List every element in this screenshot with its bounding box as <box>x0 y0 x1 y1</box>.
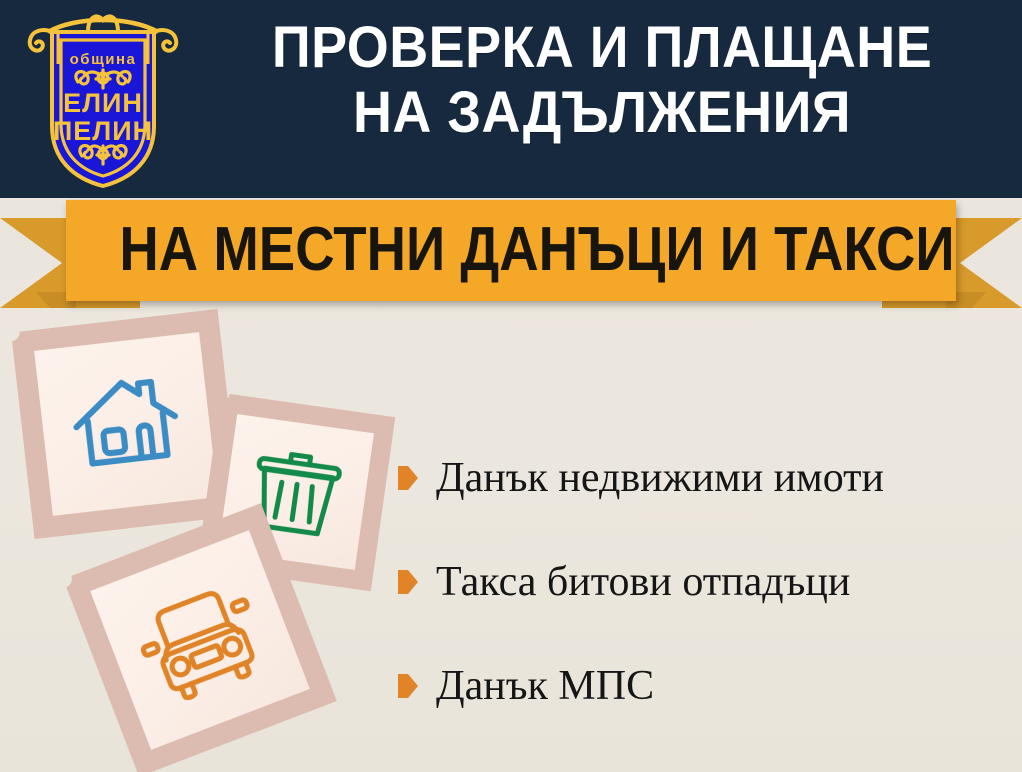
ribbon-label: НА МЕСТНИ ДАНЪЦИ И ТАКСИ <box>119 214 902 285</box>
list-item[interactable]: Данък МПС <box>398 634 1010 738</box>
car-front-icon <box>121 561 279 719</box>
svg-text:ПЕЛИН: ПЕЛИН <box>53 116 153 146</box>
elin-pelin-municipality-coat-of-arms: община ЕЛИН ПЕЛИН <box>22 6 184 192</box>
list-item[interactable]: Данък недвижими имоти <box>398 426 1010 530</box>
municipality-logo: община ЕЛИН ПЕЛИН <box>22 6 184 192</box>
list-item[interactable]: Такса битови отпадъци <box>398 530 1010 634</box>
list-item-label: Данък недвижими имоти <box>436 457 884 499</box>
poster-root: община ЕЛИН ПЕЛИН <box>0 0 1022 772</box>
tax-types-list: Данък недвижими имоти Такса битови отпад… <box>398 426 1010 738</box>
stamp-paper <box>90 530 310 750</box>
house-icon <box>61 359 192 490</box>
arrow-bullet-icon <box>398 570 418 594</box>
page-title: ПРОВЕРКА И ПЛАЩАНЕ НА ЗАДЪЛЖЕНИЯ <box>224 16 979 146</box>
svg-text:ЕЛИН: ЕЛИН <box>63 88 143 118</box>
arrow-bullet-icon <box>398 674 418 698</box>
list-item-label: Данък МПС <box>436 665 654 707</box>
subtitle-ribbon: НА МЕСТНИ ДАНЪЦИ И ТАКСИ <box>0 196 1022 308</box>
arrow-bullet-icon <box>398 466 418 490</box>
stamp-paper <box>34 332 218 516</box>
svg-text:община: община <box>70 51 137 68</box>
list-item-label: Такса битови отпадъци <box>436 561 850 603</box>
ribbon-panel: НА МЕСТНИ ДАНЪЦИ И ТАКСИ <box>66 200 956 301</box>
header-bar: община ЕЛИН ПЕЛИН <box>0 0 1022 198</box>
